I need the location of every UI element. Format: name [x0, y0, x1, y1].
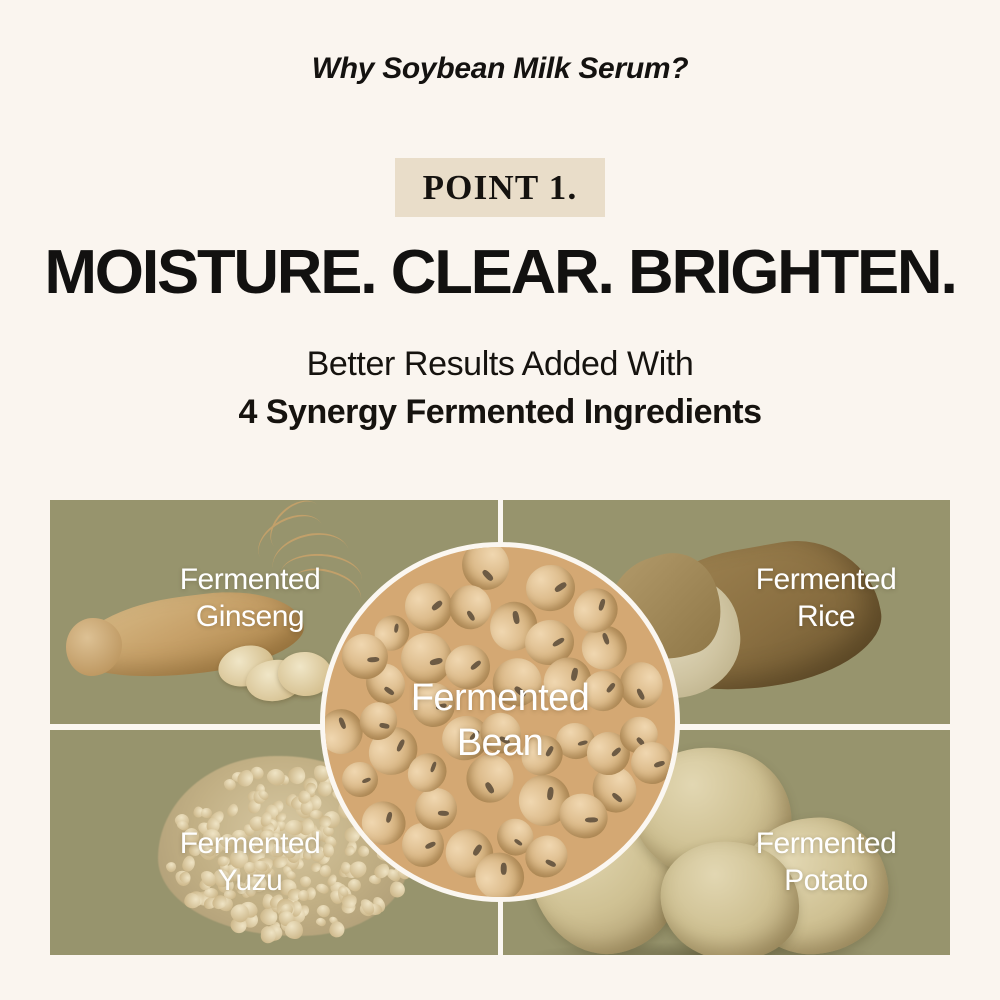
- ingredient-grid: Fermented Ginseng Fermented Rice Ferment…: [50, 500, 950, 955]
- ingredient-label-potato: Fermented Potato: [702, 826, 950, 899]
- point-badge: POINT 1.: [395, 158, 605, 217]
- ingredient-label-bean: Fermented Bean: [320, 676, 680, 766]
- point-badge-label: POINT 1.: [423, 168, 578, 208]
- ingredient-label-yuzu: Fermented Yuzu: [100, 826, 400, 899]
- ingredient-label-rice: Fermented Rice: [702, 562, 950, 635]
- subtitle-line-2: 4 Synergy Fermented Ingredients: [0, 393, 1000, 432]
- page-eyebrow-question: Why Soybean Milk Serum?: [0, 52, 1000, 86]
- page-headline: MOISTURE. CLEAR. BRIGHTEN.: [0, 240, 1000, 305]
- subtitle-line-1: Better Results Added With: [0, 345, 1000, 384]
